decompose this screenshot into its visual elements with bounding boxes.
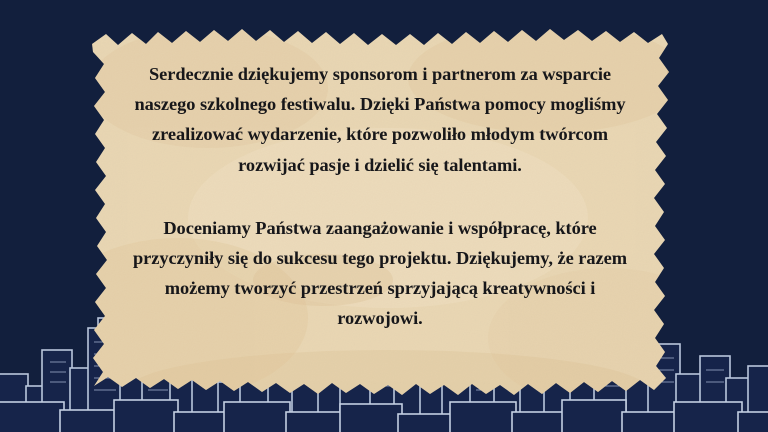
slide-canvas: Serdecznie dziękujemy sponsorom i partne… <box>0 0 768 432</box>
paragraph-appreciation: Doceniamy Państwa zaangażowanie i współp… <box>124 213 636 334</box>
torn-paper-card: Serdecznie dziękujemy sponsorom i partne… <box>88 18 672 402</box>
paragraph-thanks-sponsors: Serdecznie dziękujemy sponsorom i partne… <box>124 59 636 180</box>
paper-text-block: Serdecznie dziękujemy sponsorom i partne… <box>88 18 672 402</box>
